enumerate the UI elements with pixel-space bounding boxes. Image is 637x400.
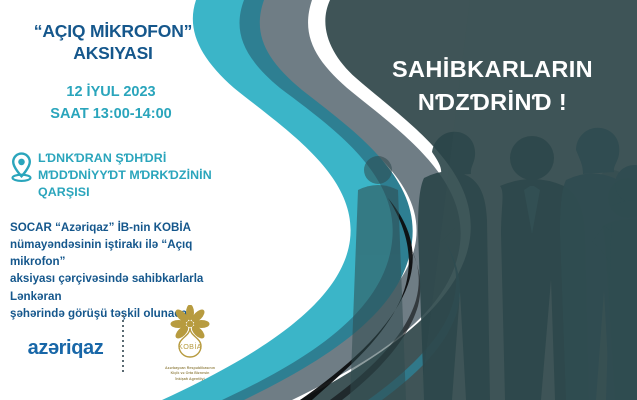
location-line-3: QARŞISI — [38, 184, 212, 201]
kobia-mark-label: KOBİA — [178, 342, 202, 351]
description-line-2: nümayəndəsinin iştirakı ilə “Açıq mikrof… — [10, 236, 238, 270]
kobia-flower-icon: KOBİA — [159, 305, 221, 365]
logo-row: azəriqaz KOBİA — [12, 305, 242, 390]
location-line-2: MƊDƊNİYYƊT MƊRKƊZİNİN — [38, 167, 212, 184]
logo-divider — [122, 315, 124, 373]
main-headline: SAHİBKARLARIN NƊZƊRİNƊ ! — [355, 53, 630, 120]
azeriqaz-logo: azəriqaz — [18, 307, 113, 358]
event-title: “AÇIQ MİKROFON” AKSIYASI — [8, 20, 218, 65]
description-line-1: SOCAR “Azəriqaz” İB-nin KOBİA — [10, 219, 238, 236]
description-line-3: aksiyası çərçivəsində sahibkarlarla Lənk… — [10, 270, 238, 304]
event-datetime: 12 İYUL 2023 SAAT 13:00-14:00 — [8, 82, 214, 126]
location-line-1: LƊNKƊRAN ŞƊHƊRİ — [38, 150, 212, 167]
headline-line-1: SAHİBKARLARIN — [355, 53, 630, 86]
kobia-caption-line-3: İnkişafı Agentliyi — [140, 377, 240, 382]
event-date: 12 İYUL 2023 — [8, 82, 214, 104]
location-text: LƊNKƊRAN ŞƊHƊRİ MƊDƊNİYYƊT MƊRKƊZİNİN QA… — [38, 150, 212, 201]
azeriqaz-wordmark: azəriqaz — [18, 338, 113, 358]
headline-line-2: NƊZƊRİNƊ ! — [355, 86, 630, 119]
poster-canvas: #1E8FD4 #2FA8E0 — [0, 0, 637, 400]
left-content-column: “AÇIQ MİKROFON” AKSIYASI 12 İYUL 2023 SA… — [0, 0, 250, 400]
map-pin-icon — [10, 152, 33, 182]
event-location: LƊNKƊRAN ŞƊHƊRİ MƊDƊNİYYƊT MƊRKƊZİNİN QA… — [10, 150, 235, 201]
event-time: SAAT 13:00-14:00 — [8, 104, 214, 126]
event-title-line-2: AKSIYASI — [8, 42, 218, 64]
gas-flame-icon — [52, 307, 80, 337]
kobia-logo: KOBİA Azərbaycan Respublikasının Kiçik v… — [140, 305, 240, 382]
event-title-line-1: “AÇIQ MİKROFON” — [8, 20, 218, 42]
kobia-caption: Azərbaycan Respublikasının Kiçik və Orta… — [140, 366, 240, 382]
